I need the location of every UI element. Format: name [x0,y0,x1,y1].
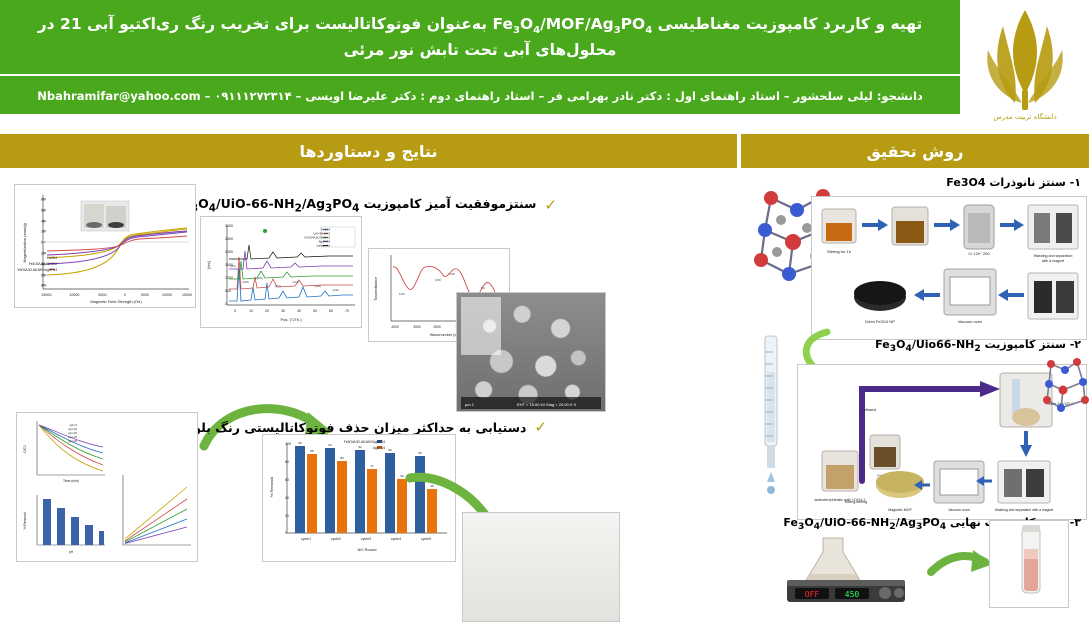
svg-text:86: 86 [418,451,422,455]
section-header-results: نتایج و دستاوردها [0,134,737,168]
svg-text:1390: 1390 [449,272,456,276]
title-line1-pre: تهیه و کاربرد کامپوزیت مغناطیسی [652,15,922,33]
svg-text:Fe3O4/UiO-66-NH2/Ag3PO4: Fe3O4/UiO-66-NH2/Ag3PO4 [17,268,57,272]
svg-text:20: 20 [265,309,269,313]
svg-text:C/C0: C/C0 [23,445,27,453]
svg-text:60: 60 [41,208,46,213]
svg-text:760: 760 [480,286,485,290]
svg-text:Stirring for 1h: Stirring for 1h [827,249,851,254]
svg-text:10: 10 [249,309,253,313]
svg-text:-15000: -15000 [41,293,53,297]
svg-text:89: 89 [388,448,392,452]
svg-text:96: 96 [298,441,302,445]
svg-text:Fe3O4/UiO-66-NH2: Fe3O4/UiO-66-NH2 [29,262,57,266]
svg-text:(110): (110) [230,264,236,268]
figure-step1-process: Stirring for 1h 200 °C/ 12h Washing and … [811,196,1087,340]
svg-text:Fe3O4: Fe3O4 [47,256,57,260]
svg-text:-10000: -10000 [69,293,81,297]
svg-text:0: 0 [225,302,227,306]
results-bullet-1-text: سنتز​موفقیت آمیز کامپوزیت Fe3O4/UiO-66-N… [174,196,536,215]
svg-text:(200): (200) [242,280,249,284]
svg-text:0: 0 [285,531,287,535]
results-column: ✓ سنتز​موفقیت آمیز کامپوزیت Fe3O4/UiO-66… [0,168,737,605]
logo-caption: دانشگاه تربیت مدرس [993,112,1056,121]
svg-text:15 ppm: 15 ppm [68,431,77,435]
svg-text:40: 40 [297,309,301,313]
svg-text:Dried Fe3O4 NP: Dried Fe3O4 NP [865,319,895,324]
section-header-method: روش تحقیق [741,134,1089,168]
poster-header: تهیه و کاربرد کامپوزیت مغناطیسی Fe3O4/MO… [0,0,1089,126]
svg-text:500: 500 [225,289,231,293]
burette-illustration [749,332,793,512]
svg-text:4000: 4000 [391,325,399,329]
xrd-chart-svg: 300025002000 150010005000 5102030 405060… [203,217,361,325]
final-vial-svg [992,521,1068,605]
svg-text:80: 80 [41,197,46,202]
section-title-method: روش تحقیق [867,142,964,161]
svg-text:Ag3PO4: Ag3PO4 [373,446,385,450]
svg-text:100: 100 [285,442,291,446]
svg-text:2500: 2500 [225,237,233,241]
section-title-results: نتایج و دستاوردها [299,142,437,161]
svg-text:80: 80 [340,456,344,460]
svg-text:Time (min): Time (min) [63,479,79,483]
title-formula: Fe3O4/MOF/Ag3PO4 [492,15,652,33]
svg-text:40: 40 [41,219,46,224]
svg-text:cycle2: cycle2 [331,537,341,541]
figure-vsm-hysteresis: 806040 200-20 -40-60-80 -15000-10000-500… [14,184,196,308]
figure-hotplate: OFF 450 [761,536,937,604]
poster-root: تهیه و کاربرد کامپوزیت مغناطیسی Fe3O4/MO… [0,0,1089,605]
svg-text:1650: 1650 [435,278,442,282]
vsm-inset-photo [81,201,129,231]
poster-authors: دانشجو: لیلی سلحشور – استاد راهنمای اول … [37,89,923,103]
svg-text:20: 20 [285,514,289,518]
svg-text:(220): (220) [256,276,263,280]
svg-text:60: 60 [329,309,333,313]
svg-text:70: 70 [345,309,349,313]
svg-text:Magnetic Field Strength (Oe): Magnetic Field Strength (Oe) [90,299,142,304]
svg-text:(400): (400) [314,284,321,288]
svg-text:80: 80 [285,460,289,464]
svg-text:cycle1: cycle1 [301,537,311,541]
svg-text:composite: composite [316,244,330,248]
method-step-1-label: ۱- سنتز نانوذرات Fe3O4 [946,176,1081,189]
svg-text:Washing and separation: Washing and separation [1034,254,1073,258]
svg-text:Pos. [°2Th.]: Pos. [°2Th.] [281,317,302,322]
svg-text:cycle3: cycle3 [361,537,371,541]
hotplate-display-off: OFF [805,590,820,599]
method-column: ۱- سنتز نانوذرات Fe3O4 [741,168,1089,605]
poster-title-box: تهیه و کاربرد کامپوزیت مغناطیسی Fe3O4/MO… [0,0,960,74]
svg-text:-20: -20 [41,251,47,256]
header-divider [0,114,960,118]
svg-text:(222): (222) [292,280,299,284]
svg-text:3500: 3500 [413,325,421,329]
svg-text:NO Round: NO Round [358,547,377,552]
figure-xrd: 300025002000 150010005000 5102030 405060… [200,216,362,328]
check-icon-2: ✓ [534,418,547,436]
hotplate-svg: OFF 450 [761,536,937,604]
svg-text:5000: 5000 [141,293,149,297]
results-bullet-2-text: دستیابی به حداکثر میزان حذف فوتوکاتالیست… [174,420,527,435]
svg-text:3000: 3000 [225,224,233,228]
svg-text:Magnetic MOF: Magnetic MOF [888,508,912,512]
svg-text:2500: 2500 [433,325,441,329]
svg-text:Fe3O4/UiO-66-NH2/Ag3PO4: Fe3O4/UiO-66-NH2/Ag3PO4 [344,440,385,444]
svg-text:200 °C/ 12h: 200 °C/ 12h [968,251,990,256]
svg-text:-80: -80 [41,283,47,288]
svg-text:25 ppm: 25 ppm [68,439,77,443]
sem-scalebar-label: 1 µm [465,402,474,407]
svg-text:5: 5 [234,309,236,313]
svg-text:Transmittance: Transmittance [374,277,378,301]
svg-text:5 ppm: 5 ppm [70,423,78,427]
svg-text:3420: 3420 [399,292,406,296]
svg-text:40: 40 [285,496,289,500]
svg-text:Magnetization (emu/g): Magnetization (emu/g) [22,222,27,262]
kinetics-ph-svg: Time (min) C/C0 5 ppm10 ppm15 ppm 20 ppm… [19,413,197,559]
poster-authors-box: دانشجو: لیلی سلحشور – استاد راهنمای اول … [0,74,960,116]
results-bullet-1: ✓ سنتز​موفقیت آمیز کامپوزیت Fe3O4/UiO-66… [174,196,557,215]
svg-text:88: 88 [310,449,314,453]
svg-text:0: 0 [124,293,126,297]
university-logo: دانشگاه تربیت مدرس [960,0,1089,126]
svg-text:cycle4: cycle4 [391,537,401,541]
svg-text:pH: pH [69,550,74,554]
svg-text:92: 92 [358,445,362,449]
logo-icon: دانشگاه تربیت مدرس [970,4,1080,122]
svg-text:(311): (311) [275,284,281,288]
figure-sem-photo: 1 µm EHT = 15.00 kV Mag = 20.00 K X [456,292,606,412]
svg-text:15000: 15000 [182,293,192,297]
title-line1-post: به‌عنوان فوتوکاتالیست برای تخریب رنگ ری‌… [38,15,493,33]
method-step-2-text: ۲- سنتز کامپوزیت Fe3O4/Uio66-NH2 [875,338,1081,351]
step1-process-svg: Stirring for 1h 200 °C/ 12h Washing and … [814,197,1086,337]
svg-text:Vacuum oven: Vacuum oven [958,319,982,324]
svg-text:94: 94 [328,443,332,447]
svg-text:-5000: -5000 [98,293,108,297]
svg-text:-60: -60 [41,273,47,278]
method-step-2-label: ۲- سنتز کامپوزیت Fe3O4/Uio66-NH2 [875,338,1081,354]
vsm-chart-svg: 806040 200-20 -40-60-80 -15000-10000-500… [17,185,195,305]
poster-title: تهیه و کاربرد کامپوزیت مغناطیسی Fe3O4/MO… [24,12,937,63]
svg-text:20: 20 [41,229,46,234]
svg-text:Vacuum oven: Vacuum oven [948,508,970,512]
svg-text:10 ppm: 10 ppm [68,427,77,431]
figure-kinetics-ph: Time (min) C/C0 5 ppm10 ppm15 ppm 20 ppm… [16,412,198,562]
svg-text:50: 50 [313,309,317,313]
figure-tubes-photo [462,512,620,622]
svg-text:60: 60 [285,478,289,482]
svg-text:Mixing-stirring: Mixing-stirring [845,500,867,504]
svg-text:[cts]: [cts] [206,261,211,268]
arrow-green-final [927,546,997,586]
method-step-1-text: ۱- سنتز نانوذرات Fe3O4 [946,176,1081,189]
svg-text:71: 71 [370,464,374,468]
check-icon: ✓ [544,196,557,214]
svg-text:Washing and separation with a: Washing and separation with a magnet [995,508,1054,512]
hotplate-display-temp: 450 [845,590,860,599]
svg-text:Removal %: Removal % [269,477,274,498]
svg-text:Removal %: Removal % [23,512,27,530]
svg-text:2000: 2000 [225,250,233,254]
svg-text:(440): (440) [332,288,339,292]
title-line2: محلول‌های آبی تحت تابش نور مرئی [344,41,617,59]
svg-text:20 ppm: 20 ppm [68,435,77,439]
svg-text:30: 30 [281,309,285,313]
crystal-structure-illustration [1039,354,1089,418]
svg-text:ethanol: ethanol [864,408,877,412]
svg-text:10000: 10000 [162,293,172,297]
svg-text:with a magnet: with a magnet [1042,259,1064,263]
figure-final-product [989,520,1069,608]
sem-info-label: EHT = 15.00 kV Mag = 20.00 K X [517,402,576,407]
